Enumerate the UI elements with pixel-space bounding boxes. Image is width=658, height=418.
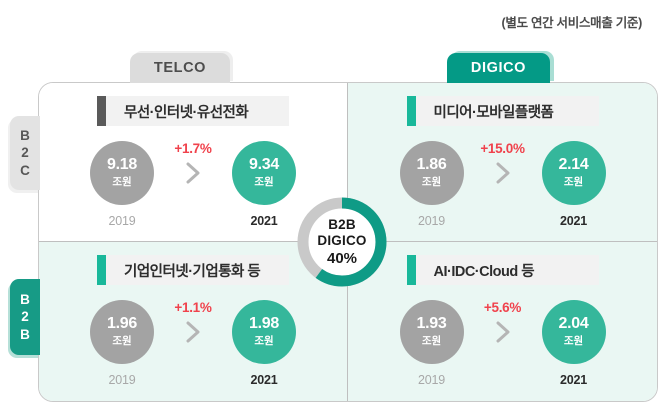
unit-old: 조원 bbox=[112, 177, 131, 188]
side-tab-b2b[interactable]: B 2 B bbox=[10, 279, 40, 355]
growth-delta: +5.6% bbox=[484, 300, 521, 315]
side-tab-b2b-char-2: B bbox=[20, 326, 30, 343]
center-donut-badge: B2B DIGICO 40% bbox=[296, 196, 388, 288]
value-new: 2.14 bbox=[559, 157, 589, 173]
accent-bar-icon bbox=[97, 96, 106, 126]
metric-row: 1.96 조원 2019 +1.1% 1.98 조원 2021 bbox=[39, 290, 347, 396]
side-tab-b2c-char-2: C bbox=[20, 162, 30, 179]
metric-old: 1.86 조원 2019 bbox=[388, 141, 476, 228]
growth-group: +1.1% bbox=[166, 300, 220, 345]
side-tab-b2c[interactable]: B 2 C bbox=[10, 116, 40, 190]
value-bubble-new: 9.34 조원 bbox=[232, 141, 296, 205]
quadrant-digico-b2c: 미디어·모바일플랫폼 1.86 조원 2019 +15.0% 2.14 bbox=[348, 83, 657, 242]
metric-row: 1.86 조원 2019 +15.0% 2.14 조원 2021 bbox=[348, 131, 657, 237]
tab-digico[interactable]: DIGICO bbox=[447, 53, 550, 83]
metric-row: 1.93 조원 2019 +5.6% 2.04 조원 2021 bbox=[348, 290, 657, 396]
chevron-right-icon bbox=[184, 160, 202, 186]
growth-group: +15.0% bbox=[476, 141, 530, 186]
metric-new: 9.34 조원 2021 bbox=[220, 141, 308, 228]
year-old: 2019 bbox=[418, 373, 445, 387]
accent-bar-icon bbox=[407, 255, 416, 285]
side-tab-b2c-char-1: 2 bbox=[21, 144, 29, 161]
donut-line-1: B2B bbox=[328, 217, 356, 233]
accent-bar-icon bbox=[97, 255, 106, 285]
tab-telco-label: TELCO bbox=[154, 60, 206, 76]
growth-delta: +15.0% bbox=[480, 141, 524, 156]
quadrant-title: 기업인터넷·기업통화 등 bbox=[124, 260, 260, 281]
growth-delta: +1.1% bbox=[174, 300, 211, 315]
donut-percent: 40% bbox=[327, 250, 357, 268]
unit-old: 조원 bbox=[112, 336, 131, 347]
value-bubble-new: 1.98 조원 bbox=[232, 300, 296, 364]
unit-new: 조원 bbox=[254, 177, 273, 188]
growth-group: +5.6% bbox=[476, 300, 530, 345]
tab-digico-label: DIGICO bbox=[471, 60, 526, 76]
quadrant-title: 무선·인터넷·유선전화 bbox=[124, 101, 248, 122]
value-old: 9.18 bbox=[107, 157, 137, 173]
metric-old: 9.18 조원 2019 bbox=[78, 141, 166, 228]
unit-new: 조원 bbox=[564, 177, 583, 188]
quadrant-title: 미디어·모바일플랫폼 bbox=[434, 101, 554, 122]
metric-new: 2.04 조원 2021 bbox=[530, 300, 618, 387]
unit-new: 조원 bbox=[564, 336, 583, 347]
value-bubble-old: 9.18 조원 bbox=[90, 141, 154, 205]
chevron-right-icon bbox=[494, 160, 512, 186]
chevron-right-icon bbox=[494, 319, 512, 345]
value-bubble-old: 1.93 조원 bbox=[400, 300, 464, 364]
quadrant-heading: 무선·인터넷·유선전화 bbox=[39, 96, 347, 126]
tab-telco[interactable]: TELCO bbox=[130, 53, 230, 83]
value-bubble-old: 1.96 조원 bbox=[90, 300, 154, 364]
quadrant-heading: 미디어·모바일플랫폼 bbox=[348, 96, 657, 126]
quadrant-digico-b2b: AI·IDC·Cloud 등 1.93 조원 2019 +5.6% 2.04 bbox=[348, 242, 657, 401]
metric-old: 1.93 조원 2019 bbox=[388, 300, 476, 387]
side-tab-b2b-char-0: B bbox=[20, 291, 30, 308]
value-new: 1.98 bbox=[249, 316, 279, 332]
quadrant-title: AI·IDC·Cloud 등 bbox=[434, 260, 535, 281]
quadrant-heading: AI·IDC·Cloud 등 bbox=[348, 255, 657, 285]
value-old: 1.93 bbox=[417, 316, 447, 332]
unit-old: 조원 bbox=[422, 336, 441, 347]
year-new: 2021 bbox=[560, 214, 587, 228]
unit-new: 조원 bbox=[254, 336, 273, 347]
value-old: 1.96 bbox=[107, 316, 137, 332]
year-new: 2021 bbox=[560, 373, 587, 387]
metric-new: 1.98 조원 2021 bbox=[220, 300, 308, 387]
year-old: 2019 bbox=[108, 214, 135, 228]
growth-delta: +1.7% bbox=[174, 141, 211, 156]
year-old: 2019 bbox=[108, 373, 135, 387]
value-new: 2.04 bbox=[559, 316, 589, 332]
side-tab-b2b-char-1: 2 bbox=[21, 308, 29, 325]
donut-label: B2B DIGICO 40% bbox=[296, 196, 388, 288]
year-new: 2021 bbox=[250, 214, 277, 228]
chevron-right-icon bbox=[184, 319, 202, 345]
year-new: 2021 bbox=[250, 373, 277, 387]
value-new: 9.34 bbox=[249, 157, 279, 173]
accent-bar-icon bbox=[407, 96, 416, 126]
value-bubble-new: 2.04 조원 bbox=[542, 300, 606, 364]
unit-old: 조원 bbox=[422, 177, 441, 188]
donut-line-2: DIGICO bbox=[317, 233, 366, 249]
value-bubble-old: 1.86 조원 bbox=[400, 141, 464, 205]
growth-group: +1.7% bbox=[166, 141, 220, 186]
metric-old: 1.96 조원 2019 bbox=[78, 300, 166, 387]
value-bubble-new: 2.14 조원 bbox=[542, 141, 606, 205]
metric-new: 2.14 조원 2021 bbox=[530, 141, 618, 228]
value-old: 1.86 bbox=[417, 157, 447, 173]
year-old: 2019 bbox=[418, 214, 445, 228]
header-caption: (별도 연간 서비스매출 기준) bbox=[502, 12, 642, 31]
side-tab-b2c-char-0: B bbox=[20, 127, 30, 144]
